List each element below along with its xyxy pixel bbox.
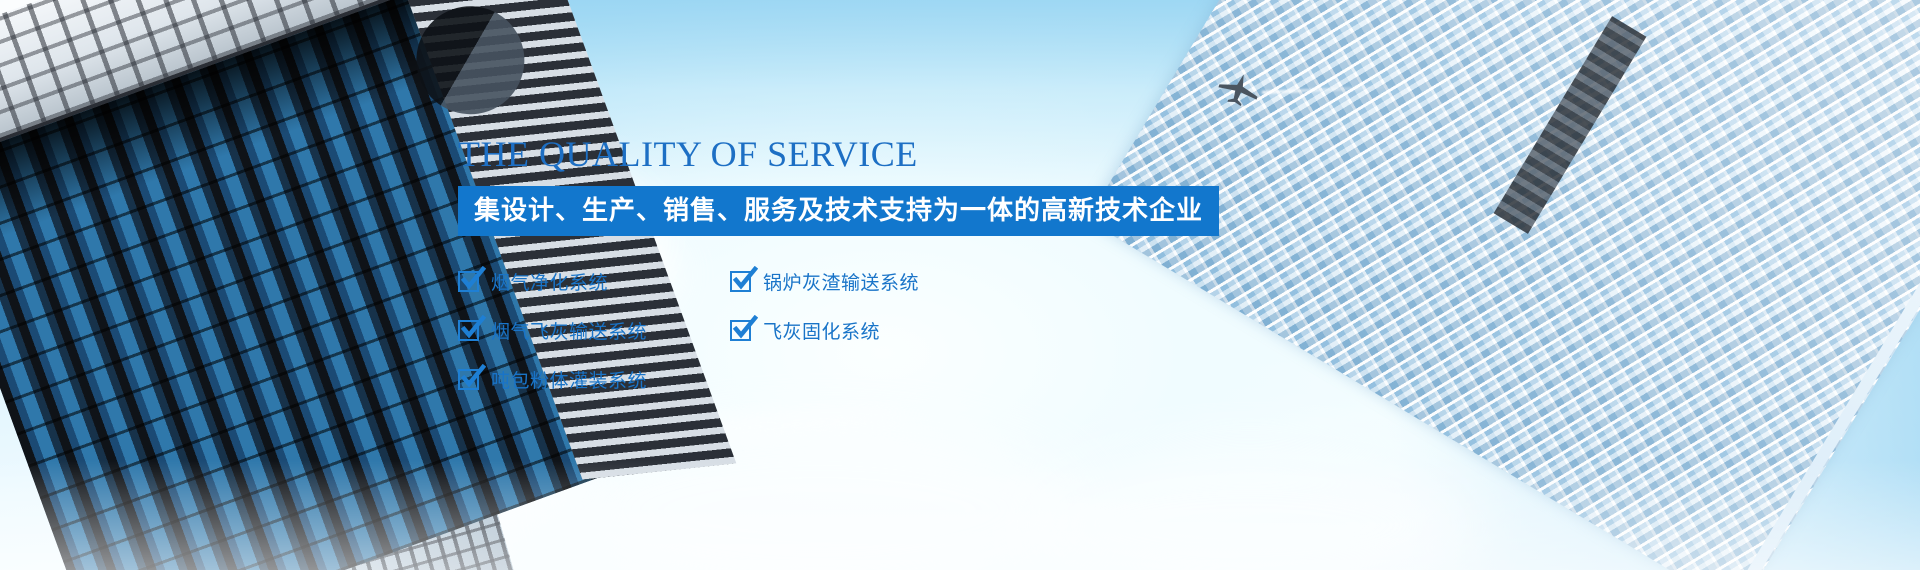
banner-headline-english: THE QUALITY OF SERVICE [458, 136, 1218, 172]
banner-content: THE QUALITY OF SERVICE 集设计、生产、销售、服务及技术支持… [458, 136, 1218, 415]
feature-item[interactable]: 锅炉灰渣输送系统 [730, 268, 1002, 295]
checkbox-checked-icon [730, 320, 751, 341]
feature-item[interactable]: 烟气净化系统 [458, 268, 730, 295]
checkbox-checked-icon [730, 271, 751, 292]
feature-item[interactable]: 飞灰固化系统 [730, 317, 1002, 344]
checkbox-checked-icon [458, 271, 479, 292]
feature-list: 烟气净化系统 锅炉灰渣输送系统 烟气飞灰输送系统 [458, 268, 1158, 415]
airplane-icon [1218, 72, 1262, 106]
feature-label: 锅炉灰渣输送系统 [763, 268, 919, 295]
feature-item[interactable]: 吨包粉体灌装系统 [458, 366, 730, 393]
feature-label: 吨包粉体灌装系统 [491, 366, 647, 393]
hero-banner: THE QUALITY OF SERVICE 集设计、生产、销售、服务及技术支持… [0, 0, 1920, 570]
feature-item[interactable]: 烟气飞灰输送系统 [458, 317, 730, 344]
checkbox-checked-icon [458, 320, 479, 341]
feature-label: 烟气净化系统 [491, 268, 608, 295]
feature-label: 飞灰固化系统 [763, 317, 880, 344]
banner-subtitle-bar: 集设计、生产、销售、服务及技术支持为一体的高新技术企业 [458, 186, 1219, 236]
feature-label: 烟气飞灰输送系统 [491, 317, 647, 344]
checkbox-checked-icon [458, 369, 479, 390]
